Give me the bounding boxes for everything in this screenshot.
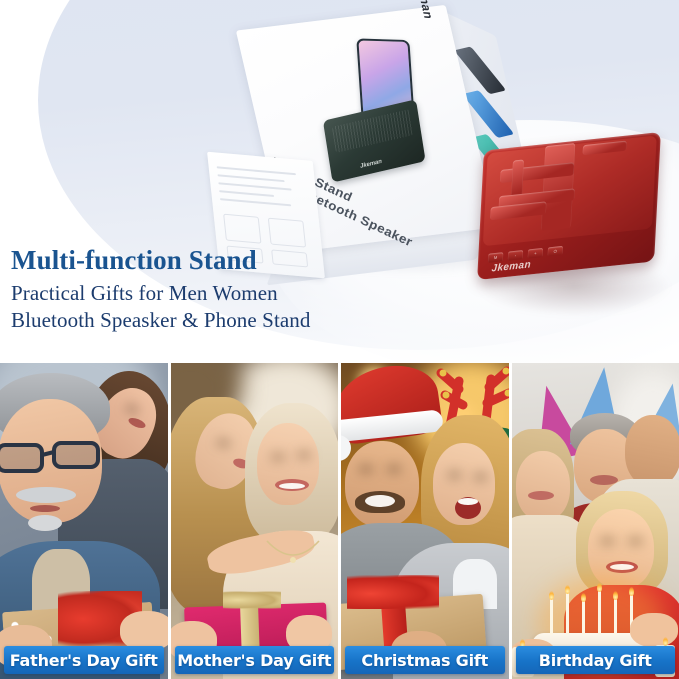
hero-subline-2: Bluetooth Speasker & Phone Stand bbox=[11, 307, 481, 335]
scene-christmas bbox=[341, 363, 509, 679]
scene-birthday bbox=[512, 363, 679, 679]
button-power[interactable]: ⏻ bbox=[548, 246, 563, 257]
hero-section: Jkeman Jkeman Phone Stand with Bluetooth… bbox=[0, 0, 679, 363]
button-mode[interactable]: M bbox=[488, 252, 503, 263]
package-speaker-brand: Jkeman bbox=[360, 159, 383, 170]
button-volume-down[interactable]: - bbox=[508, 250, 523, 261]
speaker-body: M - + ⏻ Jkeman bbox=[477, 132, 661, 280]
panel-mothers-day: Mother's Day Gift bbox=[171, 363, 339, 679]
caption-mothers-day: Mother's Day Gift bbox=[175, 646, 335, 674]
gift-bow-gold bbox=[223, 591, 281, 609]
panel-christmas: Christmas Gift bbox=[341, 363, 509, 679]
occasion-panel-strip: Father's Day Gift bbox=[0, 363, 679, 679]
product-marketing-image: Jkeman Jkeman Phone Stand with Bluetooth… bbox=[0, 0, 679, 679]
panel-fathers-day: Father's Day Gift bbox=[0, 363, 168, 679]
red-bluetooth-speaker: M - + ⏻ Jkeman bbox=[474, 138, 674, 314]
caption-christmas: Christmas Gift bbox=[345, 646, 505, 674]
caption-fathers-day: Father's Day Gift bbox=[4, 646, 164, 674]
necklace-icon bbox=[263, 539, 323, 573]
hero-copy: Multi-function Stand Practical Gifts for… bbox=[11, 246, 481, 335]
button-volume-up[interactable]: + bbox=[528, 248, 543, 259]
caption-label: Christmas Gift bbox=[361, 651, 488, 670]
scene-fathers-day bbox=[0, 363, 168, 679]
hero-subline-1: Practical Gifts for Men Women bbox=[11, 280, 481, 308]
stand-top-edge bbox=[583, 141, 627, 156]
package-speaker-illustration: Jkeman bbox=[323, 99, 426, 182]
speaker-top-face bbox=[483, 135, 657, 246]
caption-label: Mother's Day Gift bbox=[177, 651, 331, 670]
caption-label: Father's Day Gift bbox=[10, 651, 158, 670]
stand-back-support bbox=[541, 143, 575, 231]
caption-label: Birthday Gift bbox=[539, 651, 652, 670]
eyeglasses-icon bbox=[0, 439, 116, 479]
caption-birthday: Birthday Gift bbox=[516, 646, 676, 674]
page-title: Multi-function Stand bbox=[11, 246, 481, 275]
panel-birthday: Birthday Gift bbox=[512, 363, 679, 679]
gift-bow-red bbox=[347, 575, 439, 609]
scene-mothers-day bbox=[171, 363, 339, 679]
